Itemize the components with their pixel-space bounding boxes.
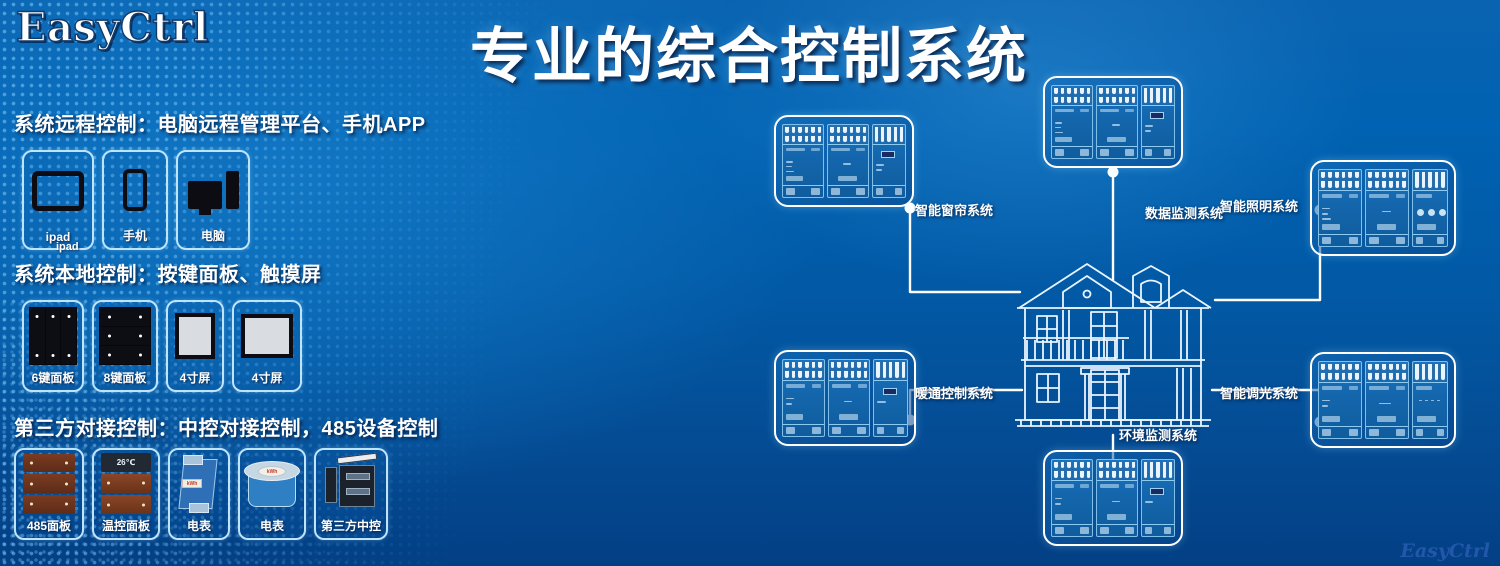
six-key-panel-icon [24, 302, 82, 369]
eight-key-panel-icon [94, 302, 156, 369]
device-card-label: 手机 [123, 227, 147, 248]
device-card-4inch-screen-wide[interactable]: 4寸屏 [232, 300, 302, 392]
controller-module-curtain[interactable] [774, 115, 914, 207]
device-card-label: 6键面板 [32, 369, 75, 390]
device-card-third-party-central[interactable]: 第三方中控 [314, 448, 388, 540]
din-module-display [1141, 459, 1175, 537]
node-label-smart-lighting: 智能照明系统 [1220, 196, 1298, 215]
din-module-display [1141, 85, 1175, 159]
smartphone-icon [104, 152, 166, 227]
device-card-phone[interactable]: 手机 [102, 150, 168, 250]
card-row-remote-control: ipad 手机 电脑 [22, 150, 250, 250]
controller-module-data-monitoring[interactable] [1043, 76, 1183, 168]
controller-module-hvac[interactable] [774, 350, 916, 446]
din-module-sliders [1412, 361, 1448, 439]
din-module [782, 124, 824, 198]
node-label-smart-curtain: 智能窗帘系统 [915, 200, 993, 219]
device-card-label: 电表 [260, 517, 284, 538]
device-card-label: 电脑 [201, 227, 225, 248]
din-module [1365, 361, 1409, 439]
din-module-leds [1412, 169, 1448, 247]
din-module [1051, 85, 1093, 159]
watermark: EasyCtrl [1400, 540, 1490, 562]
ipad-sub-note: ipad [56, 241, 79, 253]
third-party-central-control-icon [316, 450, 386, 517]
system-topology-diagram: 智能窗帘系统 数据监测系统 智能照明系统 暖通控制系统 环境监测系统 智能调光系… [760, 60, 1500, 566]
card-row-third-party: 485面板 26℃ 温控面板 kWh 电表 [14, 448, 388, 540]
device-card-8key-panel[interactable]: 8键面板 [92, 300, 158, 392]
controller-module-environment[interactable] [1043, 450, 1183, 546]
din-module [827, 124, 869, 198]
device-card-label: 8键面板 [104, 369, 147, 390]
din-module-display [873, 359, 908, 437]
thermostat-display: 26℃ [101, 453, 151, 472]
desktop-computer-icon [178, 152, 248, 227]
controller-module-lighting[interactable] [1310, 160, 1456, 256]
din-module [1096, 85, 1138, 159]
device-card-label: 4寸屏 [180, 369, 211, 390]
device-card-label: 第三方中控 [321, 517, 381, 538]
din-module [1051, 459, 1093, 537]
device-card-label: 温控面板 [102, 517, 150, 538]
din-module [782, 359, 825, 437]
din-module [1365, 169, 1409, 247]
device-card-label: 4寸屏 [252, 369, 283, 390]
node-label-smart-dimming: 智能调光系统 [1220, 383, 1298, 402]
brand-logo: EasyCtrl [16, 4, 209, 51]
din-module [828, 359, 871, 437]
din-module [1318, 169, 1362, 247]
four-inch-screen-wide-icon [234, 302, 300, 369]
meter-face-text: kWh [259, 467, 285, 478]
node-label-hvac-control: 暖通控制系统 [915, 383, 993, 402]
device-card-485-panel[interactable]: 485面板 [14, 448, 84, 540]
device-card-label: 485面板 [27, 517, 71, 538]
device-card-6key-panel[interactable]: 6键面板 [22, 300, 84, 392]
electricity-meter-icon: kWh [170, 450, 228, 517]
device-card-computer[interactable]: 电脑 [176, 150, 250, 250]
thermostat-panel-icon: 26℃ [94, 450, 158, 517]
node-label-data-monitoring: 数据监测系统 [1145, 203, 1223, 222]
tablet-icon [24, 152, 92, 230]
card-row-local-control: 6键面板 8键面板 4寸屏 4寸屏 [22, 300, 302, 392]
section-heading-local-control: 系统本地控制：按键面板、触摸屏 [14, 258, 322, 287]
four-inch-screen-icon [168, 302, 222, 369]
device-card-meter-duct[interactable]: kWh 电表 [168, 448, 230, 540]
house-illustration [1005, 250, 1220, 435]
device-card-4inch-screen[interactable]: 4寸屏 [166, 300, 224, 392]
section-heading-third-party: 第三方对接控制：中控对接控制，485设备控制 [14, 412, 438, 441]
din-module [1096, 459, 1138, 537]
section-heading-remote-control: 系统远程控制：电脑远程管理平台、手机APP [14, 108, 426, 137]
din-module-display [872, 124, 906, 198]
din-module [1318, 361, 1362, 439]
device-card-label: 电表 [187, 517, 211, 538]
poster-canvas: EasyCtrl 专业的综合控制系统 系统远程控制：电脑远程管理平台、手机APP… [0, 0, 1500, 566]
round-electricity-meter-icon: kWh [240, 450, 304, 517]
device-card-thermostat-panel[interactable]: 26℃ 温控面板 [92, 448, 160, 540]
controller-module-dimming[interactable] [1310, 352, 1456, 448]
rs485-panel-icon [16, 450, 82, 517]
device-card-meter-round[interactable]: kWh 电表 [238, 448, 306, 540]
device-card-ipad[interactable]: ipad [22, 150, 94, 250]
